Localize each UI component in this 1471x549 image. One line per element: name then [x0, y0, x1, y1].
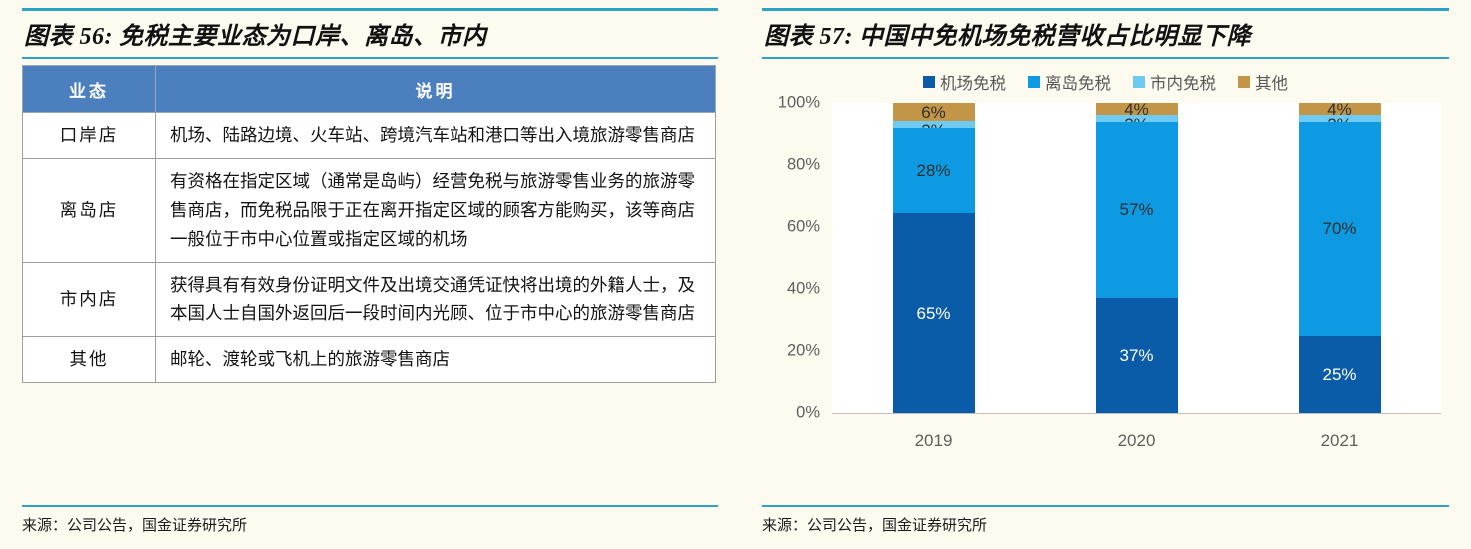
y-axis-tick: 40% — [787, 280, 820, 299]
exhibit-57-panel: 图表 57:中国中免机场免税营收占比明显下降 机场免税离岛免税市内免税其他 10… — [740, 0, 1471, 549]
title-rule-bottom — [22, 57, 718, 59]
bar-segment-机场免税[interactable]: 65% — [893, 213, 975, 413]
y-axis-tick: 60% — [787, 218, 820, 237]
bar-segment-离岛免税[interactable]: 57% — [1096, 122, 1178, 299]
y-axis: 100%80%60%40%20%0% — [762, 103, 828, 413]
business-format-table-wrap: 业态 说明 口岸店 机场、陆路边境、火车站、跨境汽车站和港口等出入境旅游零售商店… — [22, 65, 718, 383]
table-header-row: 业态 说明 — [23, 66, 716, 113]
report-page: 图表 56:免税主要业态为口岸、离岛、市内 业态 说明 口岸店 机场、陆路边境、… — [0, 0, 1471, 549]
y-axis-tick: 20% — [787, 342, 820, 361]
exhibit-57-title: 图表 57:中国中免机场免税营收占比明显下降 — [762, 11, 1449, 57]
cell-type: 口岸店 — [23, 113, 156, 159]
exhibit-56-title-text: 免税主要业态为口岸、离岛、市内 — [119, 24, 487, 50]
legend-item-3[interactable]: 其他 — [1238, 70, 1288, 94]
stacked-bar-2021[interactable]: 4%2%70%25% — [1299, 103, 1381, 413]
legend-item-2[interactable]: 市内免税 — [1133, 70, 1216, 94]
bar-slot-2021: 4%2%70%25% — [1238, 103, 1441, 413]
bar-value-label: 57% — [1119, 201, 1153, 218]
cell-desc: 邮轮、渡轮或飞机上的旅游零售商店 — [156, 337, 716, 383]
x-axis-tick: 2021 — [1238, 415, 1441, 451]
bar-group: 6%2%28%65%4%2%57%37%4%2%70%25% — [832, 103, 1441, 413]
plot-area: 6%2%28%65%4%2%57%37%4%2%70%25% — [832, 103, 1441, 414]
legend-label: 市内免税 — [1150, 70, 1216, 94]
bar-value-label: 28% — [916, 162, 950, 179]
legend-swatch-icon — [1238, 76, 1250, 88]
chart-plot: 100%80%60%40%20%0% 6%2%28%65%4%2%57%37%4… — [762, 103, 1449, 443]
x-axis-tick: 2020 — [1035, 415, 1238, 451]
bar-segment-其他[interactable]: 6% — [893, 103, 975, 121]
source-text: 来源：公司公告，国金证券研究所 — [762, 507, 1449, 535]
stacked-bar-2019[interactable]: 6%2%28%65% — [893, 103, 975, 413]
chart-legend: 机场免税离岛免税市内免税其他 — [762, 67, 1449, 97]
business-format-table: 业态 说明 口岸店 机场、陆路边境、火车站、跨境汽车站和港口等出入境旅游零售商店… — [22, 65, 716, 383]
exhibit-57-source: 来源：公司公告，国金证券研究所 — [762, 505, 1449, 535]
exhibit-56-title: 图表 56:免税主要业态为口岸、离岛、市内 — [22, 11, 718, 57]
table-row: 其他 邮轮、渡轮或飞机上的旅游零售商店 — [23, 337, 716, 383]
legend-swatch-icon — [1133, 76, 1145, 88]
stacked-bar-chart: 机场免税离岛免税市内免税其他 100%80%60%40%20%0% 6%2%28… — [762, 67, 1449, 467]
exhibit-56-panel: 图表 56:免税主要业态为口岸、离岛、市内 业态 说明 口岸店 机场、陆路边境、… — [0, 0, 740, 549]
cell-desc: 机场、陆路边境、火车站、跨境汽车站和港口等出入境旅游零售商店 — [156, 113, 716, 159]
bar-value-label: 37% — [1119, 347, 1153, 364]
bar-segment-离岛免税[interactable]: 70% — [1299, 122, 1381, 337]
cell-type: 其他 — [23, 337, 156, 383]
bar-value-label: 65% — [916, 305, 950, 322]
bar-segment-离岛免税[interactable]: 28% — [893, 128, 975, 214]
cell-type: 离岛店 — [23, 158, 156, 262]
table-body: 口岸店 机场、陆路边境、火车站、跨境汽车站和港口等出入境旅游零售商店 离岛店 有… — [23, 113, 716, 383]
legend-label: 离岛免税 — [1045, 70, 1111, 94]
bar-segment-其他[interactable]: 4% — [1299, 103, 1381, 115]
legend-label: 其他 — [1255, 70, 1288, 94]
table-head: 业态 说明 — [23, 66, 716, 113]
x-axis-tick: 2019 — [832, 415, 1035, 451]
exhibit-57-title-text: 中国中免机场免税营收占比明显下降 — [859, 24, 1251, 50]
title-rule-bottom — [762, 57, 1449, 59]
x-axis: 201920202021 — [832, 415, 1441, 451]
legend-swatch-icon — [1028, 76, 1040, 88]
bar-value-label: 25% — [1322, 366, 1356, 383]
bar-segment-其他[interactable]: 4% — [1096, 103, 1178, 115]
cell-desc: 获得具有有效身份证明文件及出境交通凭证快将出境的外籍人士，及本国人士自国外返回后… — [156, 262, 716, 337]
bar-segment-机场免税[interactable]: 37% — [1096, 298, 1178, 413]
cell-type: 市内店 — [23, 262, 156, 337]
bar-value-label: 6% — [921, 104, 946, 121]
column-header-desc: 说明 — [156, 66, 716, 113]
source-text: 来源：公司公告，国金证券研究所 — [22, 507, 718, 535]
bar-slot-2020: 4%2%57%37% — [1035, 103, 1238, 413]
exhibit-56-label: 图表 56: — [24, 24, 113, 50]
y-axis-tick: 80% — [787, 156, 820, 175]
exhibit-57-label: 图表 57: — [764, 24, 853, 50]
column-header-type: 业态 — [23, 66, 156, 113]
y-axis-tick: 100% — [778, 94, 820, 113]
cell-desc: 有资格在指定区域（通常是岛屿）经营免税与旅游零售业务的旅游零售商店，而免税品限于… — [156, 158, 716, 262]
legend-item-0[interactable]: 机场免税 — [923, 70, 1006, 94]
table-row: 离岛店 有资格在指定区域（通常是岛屿）经营免税与旅游零售业务的旅游零售商店，而免… — [23, 158, 716, 262]
bar-value-label: 70% — [1322, 220, 1356, 237]
exhibit-56-source: 来源：公司公告，国金证券研究所 — [22, 505, 718, 535]
table-row: 口岸店 机场、陆路边境、火车站、跨境汽车站和港口等出入境旅游零售商店 — [23, 113, 716, 159]
legend-item-1[interactable]: 离岛免税 — [1028, 70, 1111, 94]
bar-segment-机场免税[interactable]: 25% — [1299, 336, 1381, 413]
stacked-bar-2020[interactable]: 4%2%57%37% — [1096, 103, 1178, 413]
table-row: 市内店 获得具有有效身份证明文件及出境交通凭证快将出境的外籍人士，及本国人士自国… — [23, 262, 716, 337]
legend-label: 机场免税 — [940, 70, 1006, 94]
legend-swatch-icon — [923, 76, 935, 88]
bar-slot-2019: 6%2%28%65% — [832, 103, 1035, 413]
y-axis-tick: 0% — [796, 404, 820, 423]
